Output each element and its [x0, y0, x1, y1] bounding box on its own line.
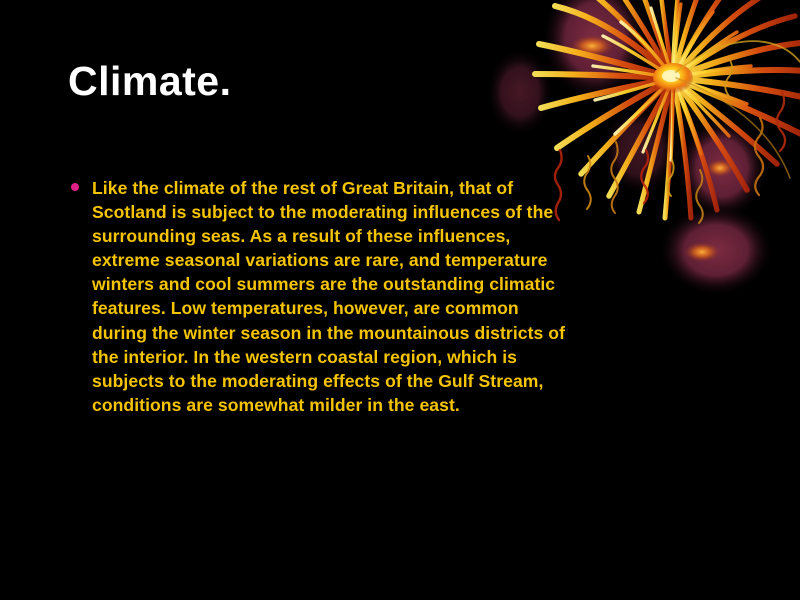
bullet-dot-icon — [71, 183, 79, 191]
presentation-slide: Climate. Like the climate of the rest of… — [0, 0, 800, 600]
burst-core — [653, 63, 693, 93]
bullet-text: Like the climate of the rest of Great Br… — [92, 176, 738, 417]
list-item: Like the climate of the rest of Great Br… — [66, 176, 738, 417]
slide-body: Like the climate of the rest of Great Br… — [66, 176, 738, 417]
slide-title: Climate. — [68, 58, 232, 105]
